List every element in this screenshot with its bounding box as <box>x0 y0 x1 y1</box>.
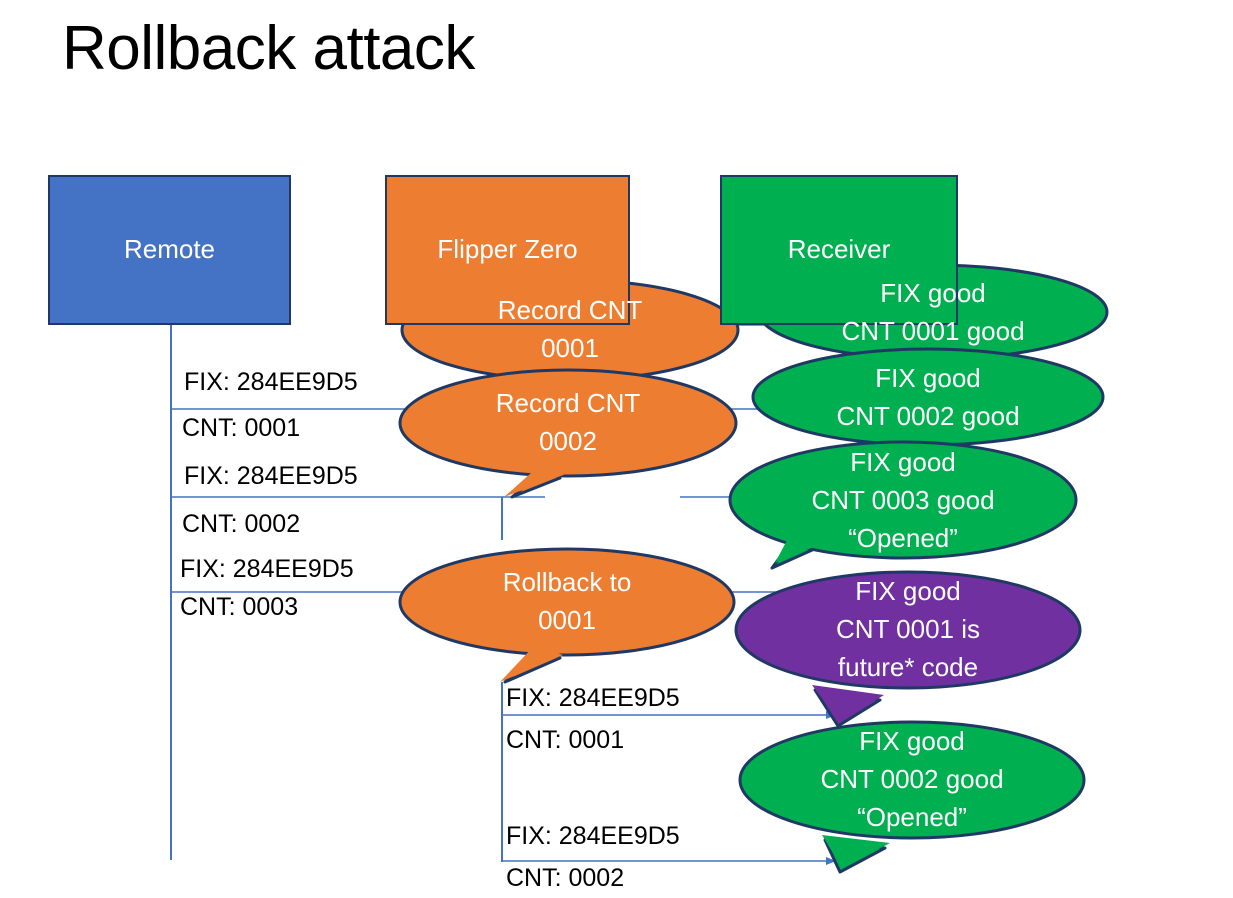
message-2-cnt: CNT: 0002 <box>182 509 300 539</box>
callout-receiver-cnt-0003-opened <box>730 442 1076 568</box>
sequence-diagram-graphics <box>0 0 1233 898</box>
message-3-cnt: CNT: 0003 <box>180 592 298 622</box>
actor-box-flipper[interactable]: Flipper Zero <box>385 175 630 325</box>
message-4-fix: FIX: 284EE9D5 <box>506 683 680 713</box>
slide-canvas: Rollback attack <box>0 0 1233 898</box>
actor-label-flipper: Flipper Zero <box>387 234 628 264</box>
callout-flipper-rollback-0001 <box>400 549 734 682</box>
actor-box-remote[interactable]: Remote <box>48 175 291 325</box>
message-4-cnt: CNT: 0001 <box>506 725 624 755</box>
callout-receiver-cnt-0002-opened <box>740 722 1084 872</box>
callout-receiver-cnt-0001-future <box>736 572 1080 726</box>
actor-label-receiver: Receiver <box>722 234 956 264</box>
callout-flipper-record-0002 <box>400 370 736 497</box>
message-5-cnt: CNT: 0002 <box>506 863 624 893</box>
message-1-cnt: CNT: 0001 <box>182 413 300 443</box>
message-1-fix: FIX: 284EE9D5 <box>184 367 358 397</box>
message-2-fix: FIX: 284EE9D5 <box>184 461 358 491</box>
message-5-fix: FIX: 284EE9D5 <box>506 821 680 851</box>
message-3-fix: FIX: 284EE9D5 <box>180 554 354 584</box>
actor-label-remote: Remote <box>50 234 289 264</box>
callout-receiver-cnt-0002-good <box>753 349 1103 445</box>
actor-box-receiver[interactable]: Receiver <box>720 175 958 325</box>
